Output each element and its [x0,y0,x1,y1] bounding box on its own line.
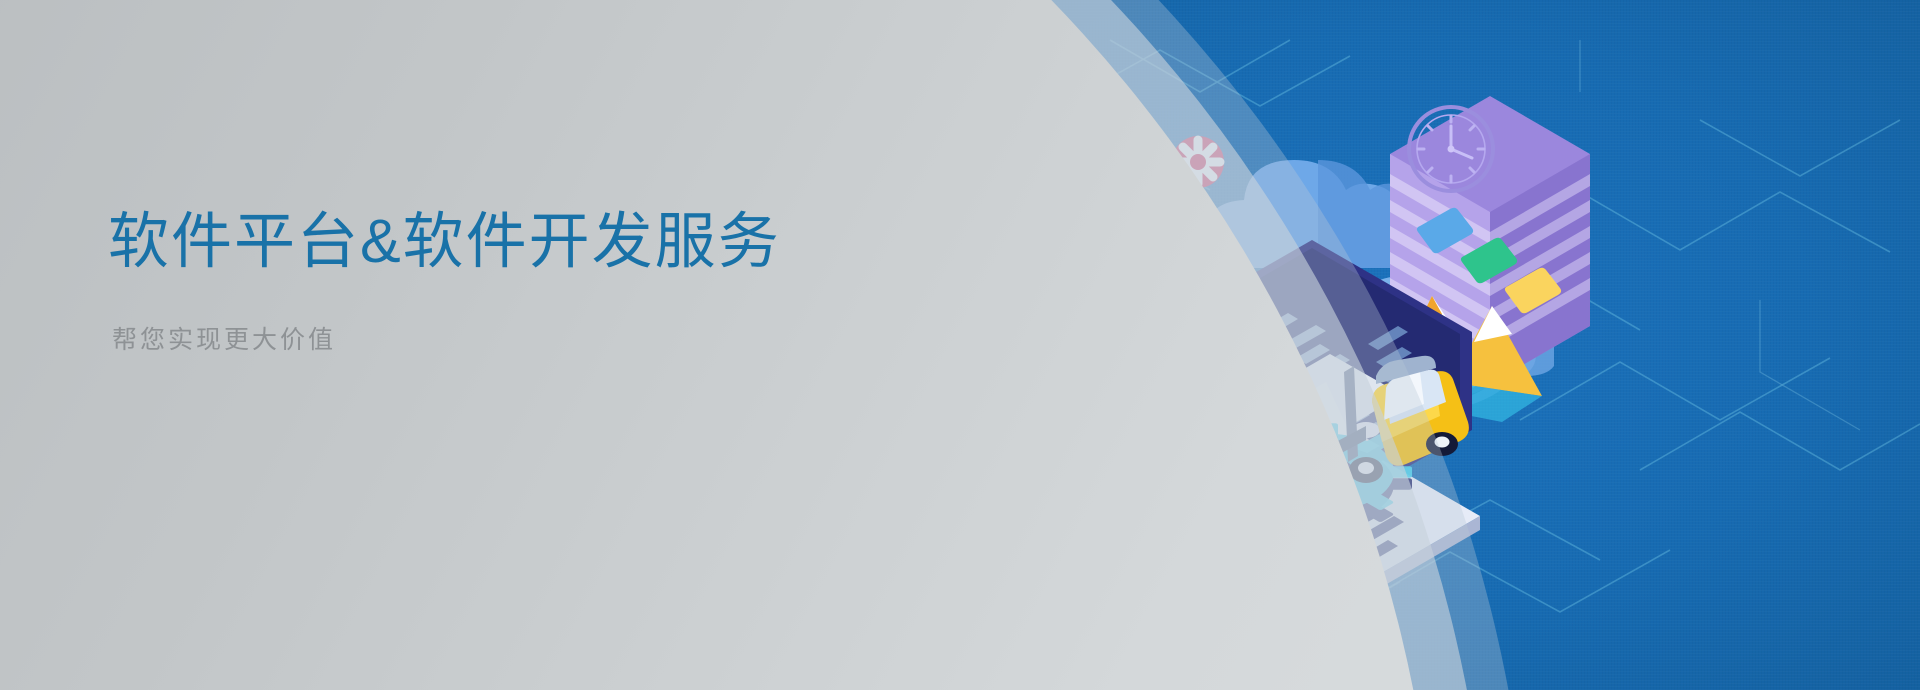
banner-copy: 软件平台&软件开发服务 帮您实现更大价值 [108,206,781,356]
banner-title: 软件平台&软件开发服务 [108,206,781,278]
banner-subtitle: 帮您实现更大价值 [112,320,781,356]
hero-banner: 软件平台&软件开发服务 帮您实现更大价值 [0,0,1920,690]
